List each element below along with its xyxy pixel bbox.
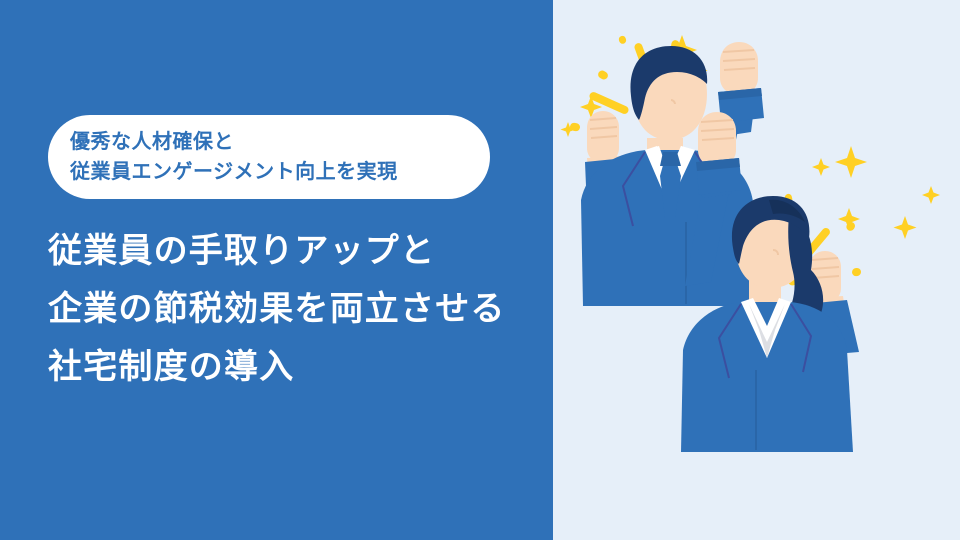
slide-root: 優秀な人材確保と 従業員エンゲージメント向上を実現 従業員の手取りアップと 企業…: [0, 0, 960, 540]
headline-line-3: 社宅制度の導入: [48, 338, 548, 396]
businesswoman-figure: [681, 112, 859, 452]
headline-line-2: 企業の節税効果を両立させる: [48, 280, 548, 338]
page-title: 従業員の手取りアップと 企業の節税効果を両立させる 社宅制度の導入: [48, 222, 548, 396]
right-illustration-panel: [553, 0, 960, 540]
fist-right: [720, 42, 758, 95]
fist-raised: [698, 112, 736, 167]
badge-line-1: 優秀な人材確保と: [70, 127, 490, 157]
celebrating-business-people-illustration: [553, 0, 960, 540]
headline-line-1: 従業員の手取りアップと: [48, 222, 548, 280]
left-content-panel: 優秀な人材確保と 従業員エンゲージメント向上を実現 従業員の手取りアップと 企業…: [0, 0, 553, 540]
highlight-badge: 優秀な人材確保と 従業員エンゲージメント向上を実現: [48, 115, 490, 199]
badge-line-2: 従業員エンゲージメント向上を実現: [70, 157, 490, 187]
fist-left: [587, 111, 619, 163]
